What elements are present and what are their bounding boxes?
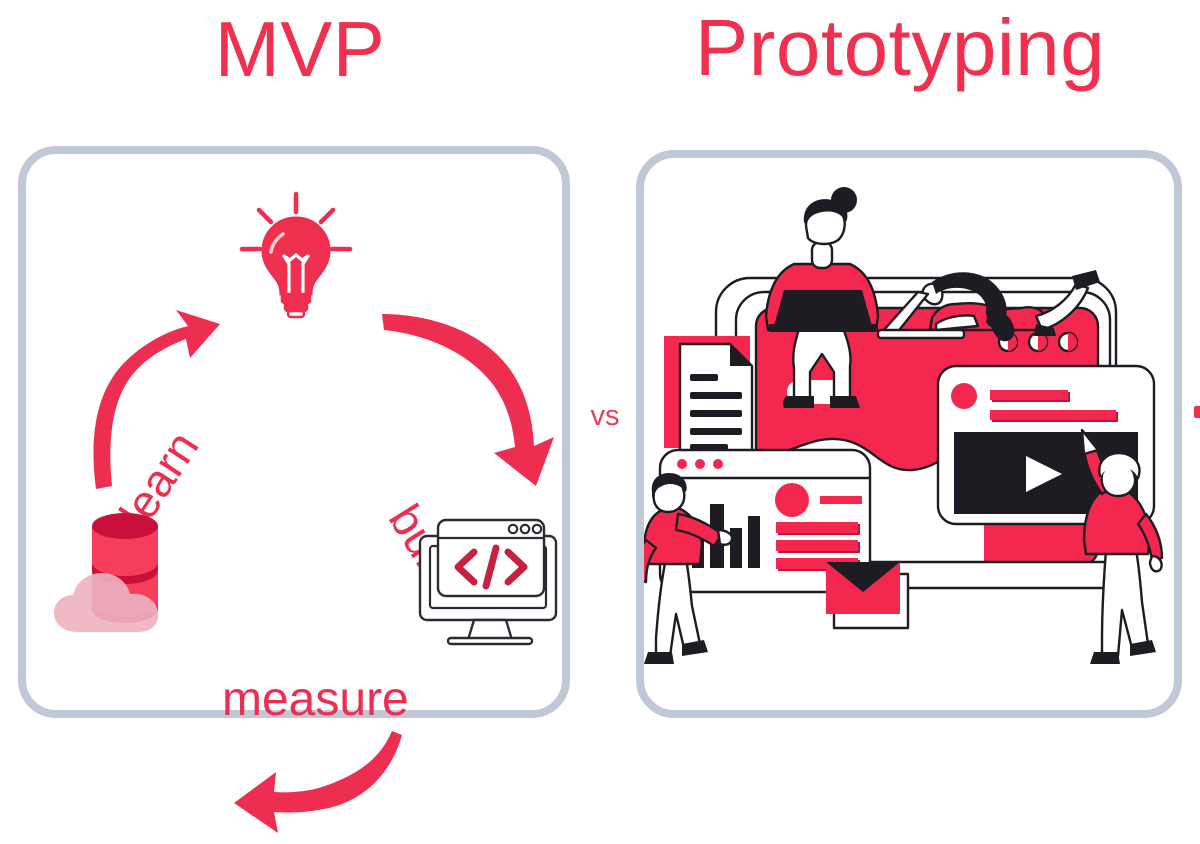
page-title-mvp: MVP [0, 10, 600, 88]
vs-divider-label: vs [575, 400, 635, 433]
comparison-infographic: MVP Prototyping [0, 0, 1200, 738]
edge-accent-mark [1194, 406, 1200, 418]
mvp-panel: learn build measure [18, 146, 570, 718]
page-title-prototyping: Prototyping [600, 8, 1200, 88]
prototyping-panel: .ink{fill:none;stroke:#1c1c22;stroke-wid… [636, 150, 1182, 718]
arrow-measure [216, 729, 406, 839]
cycle-label-measure: measure [222, 676, 409, 724]
prototyping-illustration: .ink{fill:none;stroke:#1c1c22;stroke-wid… [644, 158, 1174, 710]
arrow-build [376, 306, 566, 496]
database-cloud-icon [48, 504, 198, 654]
code-monitor-icon [408, 502, 573, 662]
